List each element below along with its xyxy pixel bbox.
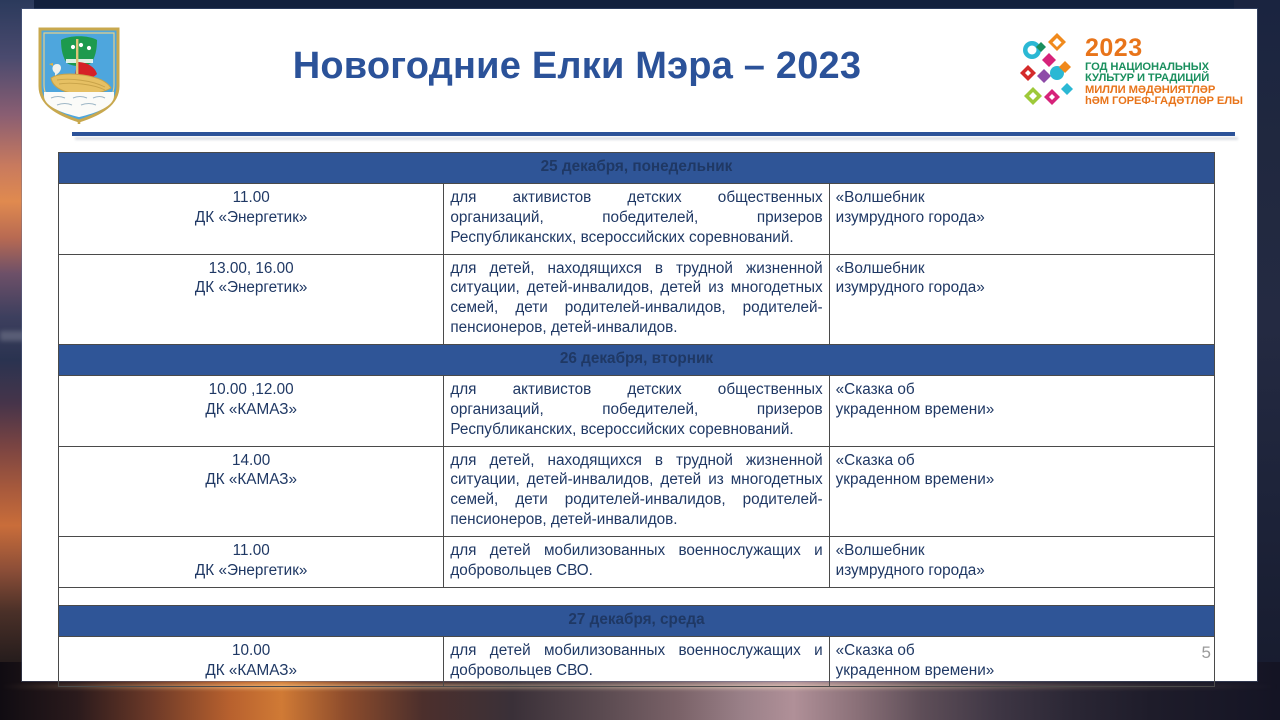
table-row: 14.00ДК «КАМАЗ»для детей, находящихся в … xyxy=(59,446,1215,537)
event-venue: ДК «КАМАЗ» xyxy=(65,661,437,681)
schedule-table-body: 25 декабря, понедельник11.00ДК «Энергети… xyxy=(59,153,1215,687)
event-time: 11.00 xyxy=(65,188,437,208)
show-title-line-2: изумрудного города» xyxy=(836,208,1208,228)
event-show-title-cell: «Сказка обукраденном времени» xyxy=(829,636,1214,687)
show-title-line-2: украденном времени» xyxy=(836,470,1208,490)
event-time-venue-cell: 13.00, 16.00ДК «Энергетик» xyxy=(59,254,444,345)
show-title-line-1: «Сказка об xyxy=(836,451,1208,471)
schedule-table: 25 декабря, понедельник11.00ДК «Энергети… xyxy=(58,152,1215,687)
year-logo-line-4: һӘМ ГОРЕФ-ГАДӘТЛӘР ЕЛЫ xyxy=(1085,96,1243,107)
presentation-slide: Новогодние Елки Мэра – 2023 xyxy=(0,0,1280,720)
event-time-venue-cell: 10.00ДК «КАМАЗ» xyxy=(59,636,444,687)
table-row: 11.00ДК «Энергетик»для активистов детски… xyxy=(59,183,1215,254)
table-row: 10.00 ,12.00ДК «КАМАЗ»для активистов дет… xyxy=(59,375,1215,446)
event-venue: ДК «Энергетик» xyxy=(65,208,437,228)
event-show-title-cell: «Волшебникизумрудного города» xyxy=(829,183,1214,254)
event-time: 14.00 xyxy=(65,451,437,471)
show-title-line-2: украденном времени» xyxy=(836,661,1208,681)
event-venue: ДК «КАМАЗ» xyxy=(65,470,437,490)
event-show-title-cell: «Сказка обукраденном времени» xyxy=(829,446,1214,537)
show-title-line-1: «Волшебник xyxy=(836,188,1208,208)
event-description-cell: для детей мобилизованных военнослужащих … xyxy=(444,537,829,588)
show-title-line-1: «Сказка об xyxy=(836,380,1208,400)
table-row: 11.00ДК «Энергетик»для детей мобилизован… xyxy=(59,537,1215,588)
event-description-cell: для активистов детских общественных орга… xyxy=(444,375,829,446)
event-time-venue-cell: 14.00ДК «КАМАЗ» xyxy=(59,446,444,537)
tatar-ornament-icon xyxy=(1019,29,1081,115)
show-title-line-2: изумрудного города» xyxy=(836,561,1208,581)
show-title-line-1: «Волшебник xyxy=(836,541,1208,561)
event-time: 11.00 xyxy=(65,541,437,561)
day-header-label: 26 декабря, вторник xyxy=(59,345,1215,376)
event-description-cell: для детей, находящихся в трудной жизненн… xyxy=(444,254,829,345)
show-title-line-1: «Волшебник xyxy=(836,259,1208,279)
header-divider xyxy=(72,132,1235,136)
day-header-label: 25 декабря, понедельник xyxy=(59,153,1215,184)
show-title-line-2: украденном времени» xyxy=(836,400,1208,420)
event-venue: ДК «Энергетик» xyxy=(65,561,437,581)
day-header-row: 27 декабря, среда xyxy=(59,605,1215,636)
event-time: 10.00 xyxy=(65,641,437,661)
event-description-cell: для детей мобилизованных военнослужащих … xyxy=(444,636,829,687)
show-title-line-1: «Сказка об xyxy=(836,641,1208,661)
event-venue: ДК «Энергетик» xyxy=(65,278,437,298)
table-row: 13.00, 16.00ДК «Энергетик»для детей, нах… xyxy=(59,254,1215,345)
day-header-label: 27 декабря, среда xyxy=(59,605,1215,636)
page-title: Новогодние Елки Мэра – 2023 xyxy=(162,45,992,88)
event-description-cell: для детей, находящихся в трудной жизненн… xyxy=(444,446,829,537)
year-logo-text-block: 2023 ГОД НАЦИОНАЛЬНЫХ КУЛЬТУР И ТРАДИЦИЙ… xyxy=(1085,36,1243,107)
table-row: 10.00ДК «КАМАЗ»для детей мобилизованных … xyxy=(59,636,1215,687)
table-spacer-row xyxy=(59,587,1215,605)
day-header-row: 25 декабря, понедельник xyxy=(59,153,1215,184)
event-time-venue-cell: 10.00 ,12.00ДК «КАМАЗ» xyxy=(59,375,444,446)
event-time: 10.00 ,12.00 xyxy=(65,380,437,400)
coat-of-arms-icon xyxy=(35,26,123,124)
slide-number: 5 xyxy=(1202,643,1211,663)
year-of-cultures-logo: 2023 ГОД НАЦИОНАЛЬНЫХ КУЛЬТУР И ТРАДИЦИЙ… xyxy=(1019,25,1241,119)
event-time-venue-cell: 11.00ДК «Энергетик» xyxy=(59,183,444,254)
table-spacer-cell xyxy=(59,587,1215,605)
event-show-title-cell: «Сказка обукраденном времени» xyxy=(829,375,1214,446)
day-header-row: 26 декабря, вторник xyxy=(59,345,1215,376)
show-title-line-2: изумрудного города» xyxy=(836,278,1208,298)
event-venue: ДК «КАМАЗ» xyxy=(65,400,437,420)
year-logo-year: 2023 xyxy=(1085,36,1243,62)
event-show-title-cell: «Волшебникизумрудного города» xyxy=(829,537,1214,588)
event-time: 13.00, 16.00 xyxy=(65,259,437,279)
event-description-cell: для активистов детских общественных орга… xyxy=(444,183,829,254)
slide-canvas: Новогодние Елки Мэра – 2023 xyxy=(22,9,1257,681)
event-time-venue-cell: 11.00ДК «Энергетик» xyxy=(59,537,444,588)
event-show-title-cell: «Волшебникизумрудного города» xyxy=(829,254,1214,345)
